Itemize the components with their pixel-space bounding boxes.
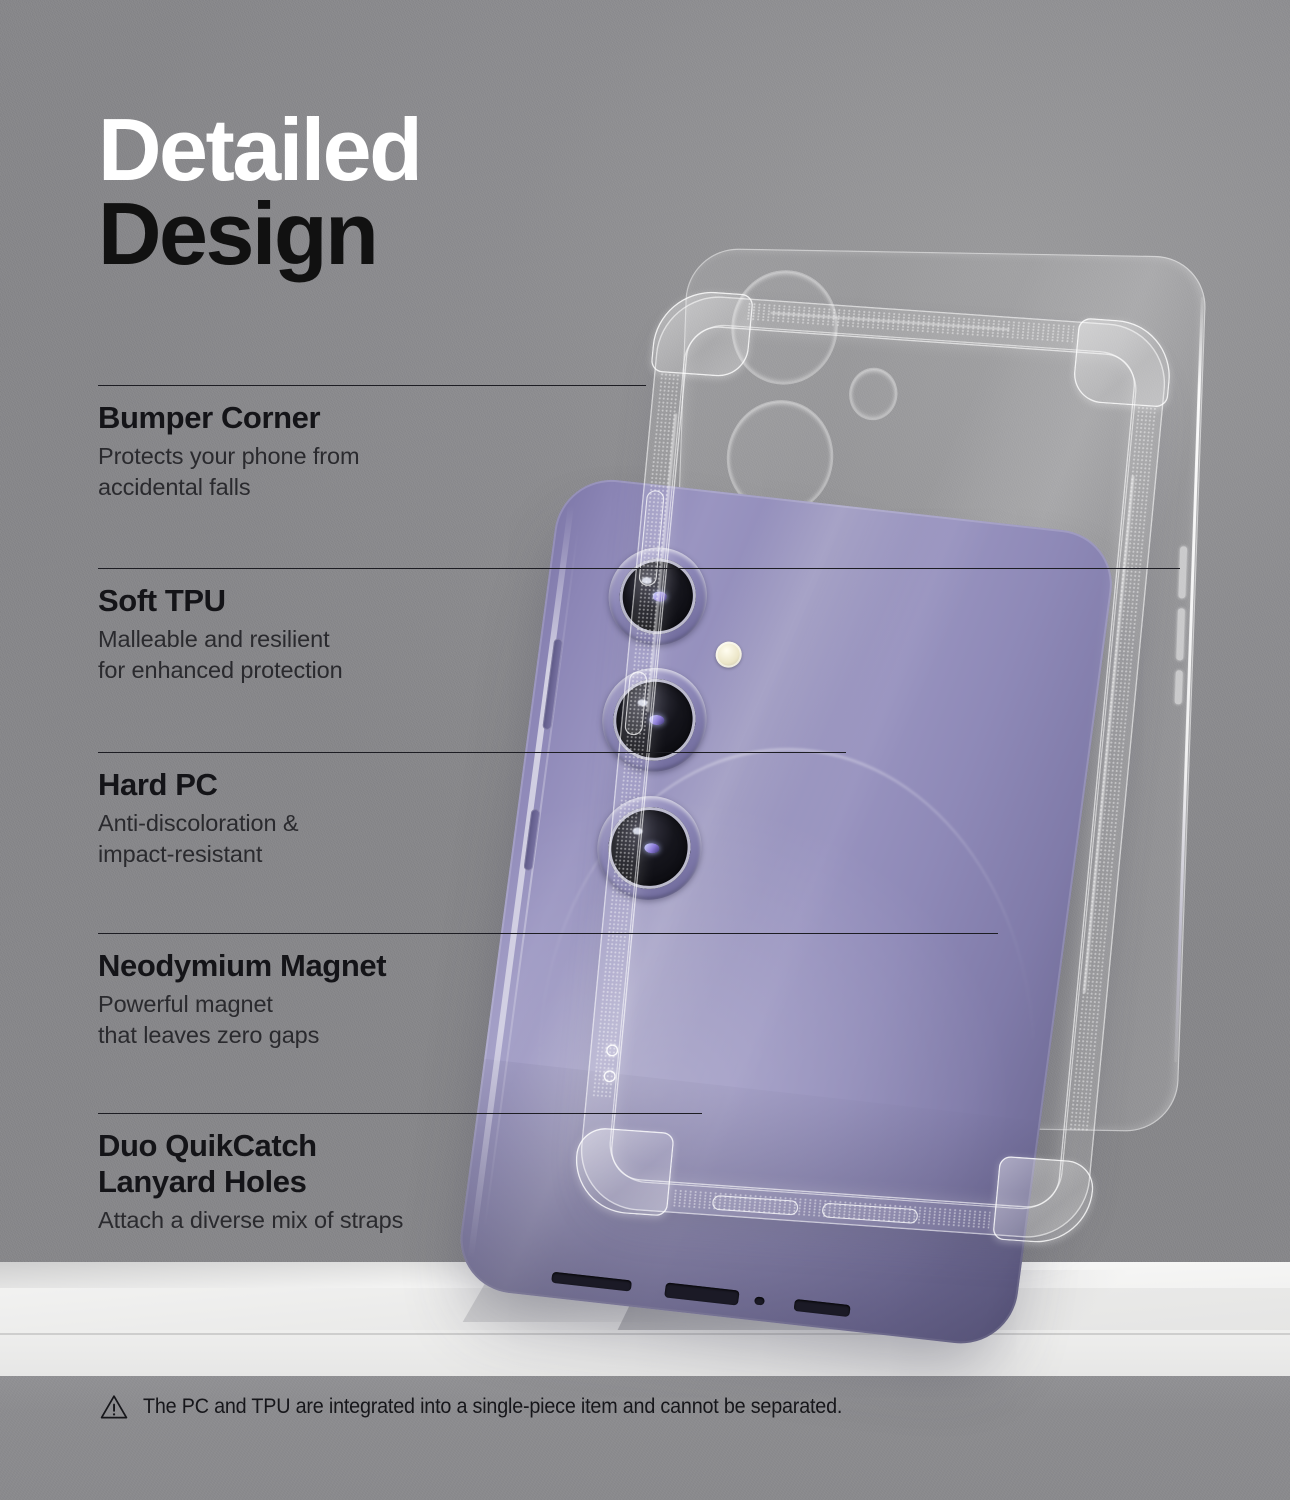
feature-description: Attach a diverse mix of straps <box>98 1205 568 1236</box>
title-line-2: Design <box>98 192 420 276</box>
feature-description-line-2: for enhanced protection <box>98 655 568 686</box>
bumper-corner-top-right <box>1071 317 1175 407</box>
feature-title-line-2: Lanyard Holes <box>98 1164 568 1200</box>
feature-title-line-1: Duo QuikCatch <box>98 1128 568 1164</box>
phone-microphone <box>754 1296 765 1305</box>
feature-title: Bumper Corner <box>98 382 568 436</box>
phone-usb-c-port <box>664 1282 740 1305</box>
feature-soft-tpu: Soft TPU Malleable and resilient for enh… <box>98 565 568 686</box>
feature-description: Malleable and resilient for enhanced pro… <box>98 624 568 686</box>
page-title: Detailed Design <box>98 108 420 277</box>
infographic-stage: Detailed Design Bumper Corner Protects y… <box>0 0 1290 1500</box>
clear-protective-case <box>575 292 1170 1242</box>
feature-description-line-1: Attach a diverse mix of straps <box>98 1205 568 1236</box>
bumper-corner-bottom-left <box>571 1126 675 1216</box>
floor-seam-line <box>0 1333 1290 1335</box>
feature-neodymium-magnet: Neodymium Magnet Powerful magnet that le… <box>98 930 568 1051</box>
bumper-corner-top-left <box>650 288 754 378</box>
feature-title: Hard PC <box>98 749 568 803</box>
feature-title: Soft TPU <box>98 565 568 619</box>
feature-description-line-2: that leaves zero gaps <box>98 1020 568 1051</box>
phone-speaker-grille-right <box>793 1299 850 1317</box>
feature-description: Protects your phone from accidental fall… <box>98 441 568 503</box>
case-inner-edge <box>606 322 1140 1212</box>
feature-description-line-2: impact-resistant <box>98 839 568 870</box>
feature-duo-quikcatch-lanyard-holes: Duo QuikCatch Lanyard Holes Attach a div… <box>98 1110 568 1236</box>
feature-description-line-1: Malleable and resilient <box>98 624 568 655</box>
title-line-1: Detailed <box>98 108 420 192</box>
phone-speaker-grille-left <box>551 1272 632 1292</box>
feature-description-line-1: Anti-discoloration & <box>98 808 568 839</box>
feature-description: Anti-discoloration & impact-resistant <box>98 808 568 870</box>
feature-description-line-2: accidental falls <box>98 472 568 503</box>
footnote-text: The PC and TPU are integrated into a sin… <box>143 1395 842 1419</box>
feature-hard-pc: Hard PC Anti-discoloration & impact-resi… <box>98 749 568 870</box>
floor-front-face <box>0 1330 1290 1382</box>
footnote: The PC and TPU are integrated into a sin… <box>100 1394 887 1420</box>
feature-description-line-1: Powerful magnet <box>98 989 568 1020</box>
bumper-corner-bottom-right <box>992 1156 1096 1246</box>
feature-description: Powerful magnet that leaves zero gaps <box>98 989 568 1051</box>
warning-triangle-icon <box>100 1394 128 1420</box>
feature-title: Neodymium Magnet <box>98 930 568 984</box>
feature-title: Duo QuikCatch Lanyard Holes <box>98 1110 568 1200</box>
feature-bumper-corner: Bumper Corner Protects your phone from a… <box>98 382 568 503</box>
feature-description-line-1: Protects your phone from <box>98 441 568 472</box>
